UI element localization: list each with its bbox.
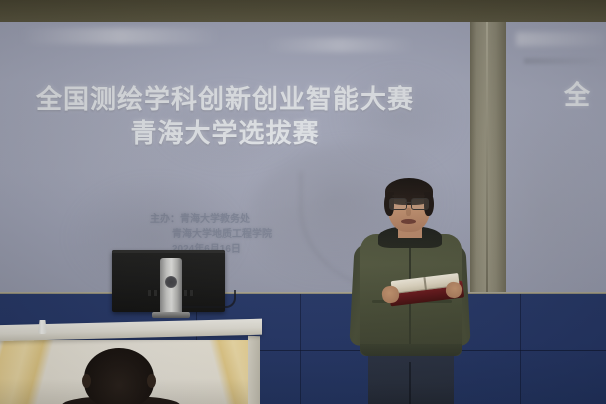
dell-logo-icon (165, 276, 177, 288)
speaker-mouth (401, 219, 416, 224)
monitor-base (152, 312, 190, 318)
photo-scene: 全国测绘学科创新创业智能大赛 青海大学选拔赛 主办：青海大学教务处 青海大学地质… (0, 0, 606, 404)
monitor-cable (182, 290, 236, 308)
speaker-nose (406, 208, 411, 216)
speaker-eyebrow (412, 195, 425, 197)
speaker-trousers (368, 352, 454, 404)
audience-ear (147, 374, 156, 388)
eyeglasses-icon (389, 198, 429, 208)
jacket-hem (360, 344, 462, 356)
eyeglass-lens (389, 198, 407, 210)
eyeglass-lens (411, 198, 429, 210)
audience-ear (82, 374, 91, 388)
audience-head (84, 348, 154, 404)
speaker-eyebrow (392, 195, 405, 197)
monitor-rim (112, 250, 225, 253)
podium-side-edge (248, 336, 260, 404)
speaker-trouser-seam (409, 362, 411, 404)
